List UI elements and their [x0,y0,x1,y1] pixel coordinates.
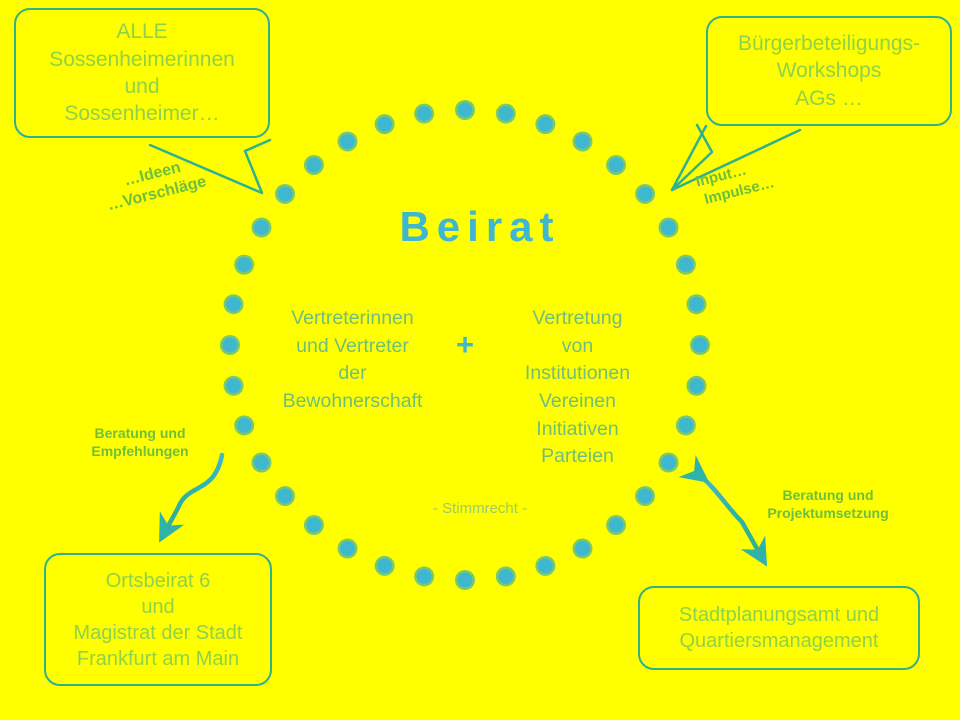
circle-dot-halo [535,556,555,576]
bubble-alle: ALLE Sossenheimerinnen und Sossenheimer… [14,8,270,138]
beirat-composition: Vertreterinnen und Vertreter der Bewohne… [255,305,675,471]
circle-dot [458,103,473,118]
box-ortsbeirat-line-1: Ortsbeirat 6 [46,568,270,594]
circle-dot [689,378,704,393]
circle-dot [638,186,653,201]
label-beratung-empf-line-1: Beratung und [74,425,206,443]
circle-dot [538,117,553,132]
circle-dot [306,157,321,172]
circle-dot [417,106,432,121]
diagram-canvas: ALLE Sossenheimerinnen und Sossenheimer…… [0,0,960,720]
box-ortsbeirat-line-2: und [46,594,270,620]
bubble-buerger-line-1: Bürgerbeteiligungs- [708,30,950,57]
circle-dot-halo [676,415,696,435]
arrow-beratung-empfehlungen [166,455,222,530]
stimmrecht-footnote: - Stimmrecht - [0,500,960,517]
circle-dot [678,257,693,272]
right-col-line-4: Vereinen [490,388,665,416]
box-stadtplanungsamt: Stadtplanungsamt und Quartiersmanagement [638,586,920,670]
circle-dot [340,541,355,556]
left-col-line-2: und Vertreter [265,333,440,361]
circle-dot-halo [455,100,475,120]
circle-dot-halo [686,376,706,396]
circle-dot-halo [686,294,706,314]
circle-dot [498,106,513,121]
circle-dot-halo [338,131,358,151]
circle-dot [226,378,241,393]
circle-dot-halo [275,184,295,204]
circle-dot [377,558,392,573]
circle-dot-halo [338,539,358,559]
circle-dot [609,157,624,172]
circle-dot-halo [635,184,655,204]
right-col-line-6: Parteien [490,443,665,471]
circle-dot-halo [304,155,324,175]
box-ortsbeirat: Ortsbeirat 6 und Magistrat der Stadt Fra… [44,553,272,686]
left-col-line-3: der [265,360,440,388]
right-col-line-2: von [490,333,665,361]
page-title: Beirat [0,203,960,251]
composition-right-column: Vertretung von Institutionen Vereinen In… [490,305,665,471]
circle-dot-halo [496,104,516,124]
circle-dot [237,418,252,433]
circle-dot [377,117,392,132]
composition-left-column: Vertreterinnen und Vertreter der Bewohne… [265,305,440,416]
bubble-alle-line-1: ALLE [16,18,268,45]
box-stadtplanung-line-2: Quartiersmanagement [640,628,918,654]
box-ortsbeirat-line-4: Frankfurt am Main [46,646,270,672]
circle-dot [575,134,590,149]
circle-dot-halo [375,114,395,134]
circle-dot-halo [496,566,516,586]
circle-dot-halo [573,131,593,151]
box-ortsbeirat-line-3: Magistrat der Stadt [46,620,270,646]
circle-dot [575,541,590,556]
bubble-buerger-line-3: AGs … [708,85,950,112]
circle-dot-halo [234,255,254,275]
circle-dot [417,569,432,584]
circle-dot-halo [535,114,555,134]
circle-dot [277,186,292,201]
circle-dot-halo [224,376,244,396]
bubble-alle-line-4: Sossenheimer… [16,100,268,127]
left-col-line-1: Vertreterinnen [265,305,440,333]
circle-dot-halo [606,515,626,535]
circle-dot [498,569,513,584]
circle-dot [223,338,238,353]
circle-dot [693,338,708,353]
circle-dot-halo [414,104,434,124]
circle-dot [458,573,473,588]
circle-dot [237,257,252,272]
right-col-line-5: Initiativen [490,416,665,444]
box-stadtplanung-line-1: Stadtplanungsamt und [640,602,918,628]
right-col-line-1: Vertretung [490,305,665,333]
label-beratung-empfehlungen: Beratung und Empfehlungen [74,425,206,460]
circle-dot-halo [304,515,324,535]
circle-dot [538,558,553,573]
circle-dot [306,518,321,533]
bubble-alle-line-2: Sossenheimerinnen [16,46,268,73]
circle-dot [609,518,624,533]
circle-dot [689,297,704,312]
circle-dot-halo [375,556,395,576]
plus-icon: + [440,305,490,360]
circle-dot-halo [606,155,626,175]
label-beratung-empf-line-2: Empfehlungen [74,443,206,461]
circle-dot-halo [414,566,434,586]
circle-dot-halo [455,570,475,590]
circle-dot-halo [234,415,254,435]
circle-dot-halo [690,335,710,355]
circle-dot [226,297,241,312]
bubble-buerger-line-2: Workshops [708,57,950,84]
circle-dot [678,418,693,433]
circle-dot-halo [573,539,593,559]
bubble-buergerbeteiligung: Bürgerbeteiligungs- Workshops AGs … [706,16,952,126]
left-col-line-4: Bewohnerschaft [265,388,440,416]
circle-dot-halo [220,335,240,355]
bubble-alle-line-3: und [16,73,268,100]
circle-dot-halo [676,255,696,275]
circle-dot-halo [224,294,244,314]
right-col-line-3: Institutionen [490,360,665,388]
circle-dot [340,134,355,149]
